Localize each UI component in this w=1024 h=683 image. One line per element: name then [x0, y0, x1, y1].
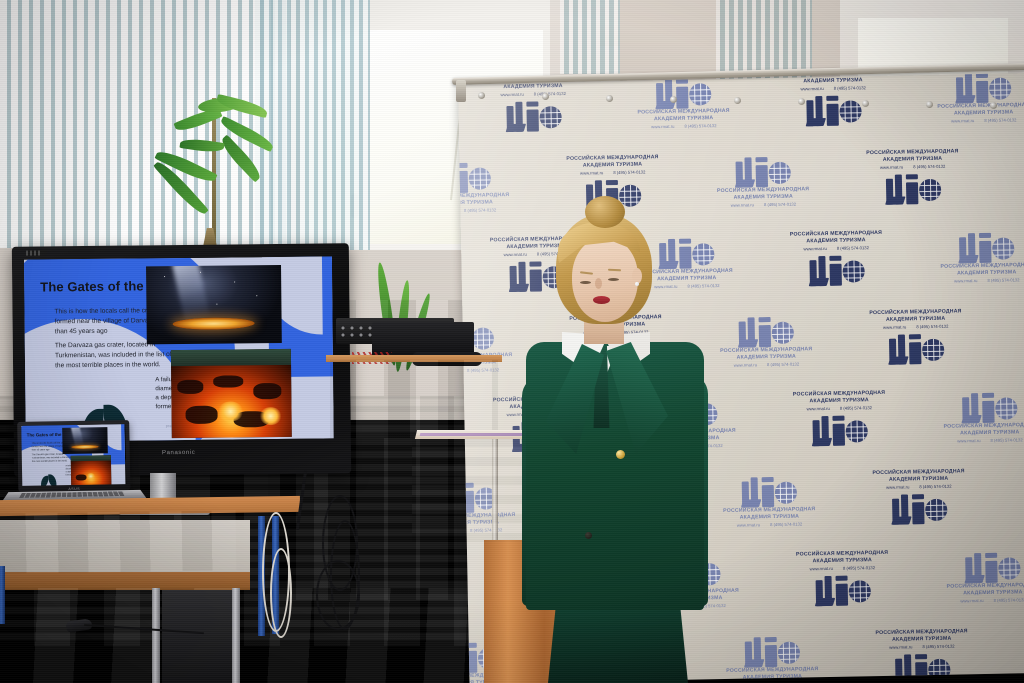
presentation-room-photo: РОССИЙСКАЯ МЕЖДУНАРОДНАЯАКАДЕМИЯ ТУРИЗМА… [0, 0, 1024, 683]
banner-bar-end-left [456, 80, 466, 102]
lapel-pin [616, 450, 625, 459]
speaker-hair-bun [585, 196, 625, 228]
slide-canvas: The Gates of the Hell This is how the lo… [24, 256, 334, 441]
speaker-lips [593, 296, 610, 304]
milky-way [172, 265, 211, 324]
white-cable-loop-2 [270, 548, 292, 638]
speaker-eye-right [608, 278, 619, 281]
equipment-counter [330, 360, 498, 438]
speaker-nose [595, 278, 602, 289]
tv-brand-label: Panasonic [162, 450, 195, 456]
desk-apron [0, 510, 236, 573]
crater-glow [173, 317, 255, 330]
desk-leg-left [0, 566, 5, 624]
tv-indicator-led [26, 250, 42, 255]
banner-grommet [990, 102, 997, 109]
speaker-skirt [548, 600, 688, 683]
banner-grommet [926, 101, 933, 108]
banner-grommet [670, 96, 677, 103]
speaker-eye-left [580, 281, 591, 284]
tv-stand-column [152, 588, 160, 683]
speaker-face [572, 238, 638, 322]
banner-grommet [606, 95, 613, 102]
tv-stand-column-right [232, 588, 240, 683]
speaker-jacket [526, 342, 704, 610]
speaker-person: РМАТ [500, 196, 730, 683]
teal-curtain-mid [560, 0, 620, 74]
slide-paragraph-2: The Darvaza gas crater, located in Turkm… [55, 340, 180, 371]
laptop-screen: The Gates of the Hell This is how the lo… [21, 424, 126, 486]
tv-screen: The Gates of the Hell This is how the lo… [24, 256, 334, 441]
laptop-lid: The Gates of the Hell This is how the lo… [17, 420, 130, 492]
laptop-keyboard[interactable] [19, 491, 125, 497]
speaker-earring [635, 282, 639, 286]
laptop-slide-canvas: The Gates of the Hell This is how the lo… [21, 424, 125, 486]
banner-grommet [734, 97, 741, 104]
vertical-blinds-left [0, 0, 290, 248]
jacket-button [585, 532, 592, 539]
banner-grommet [862, 100, 869, 107]
banner-grommet [478, 92, 485, 99]
vertical-blinds-mid [255, 0, 370, 250]
night-sky-crater-photo [146, 265, 282, 344]
cable-loop-3 [316, 560, 360, 630]
burning-crater-photo [171, 349, 292, 438]
